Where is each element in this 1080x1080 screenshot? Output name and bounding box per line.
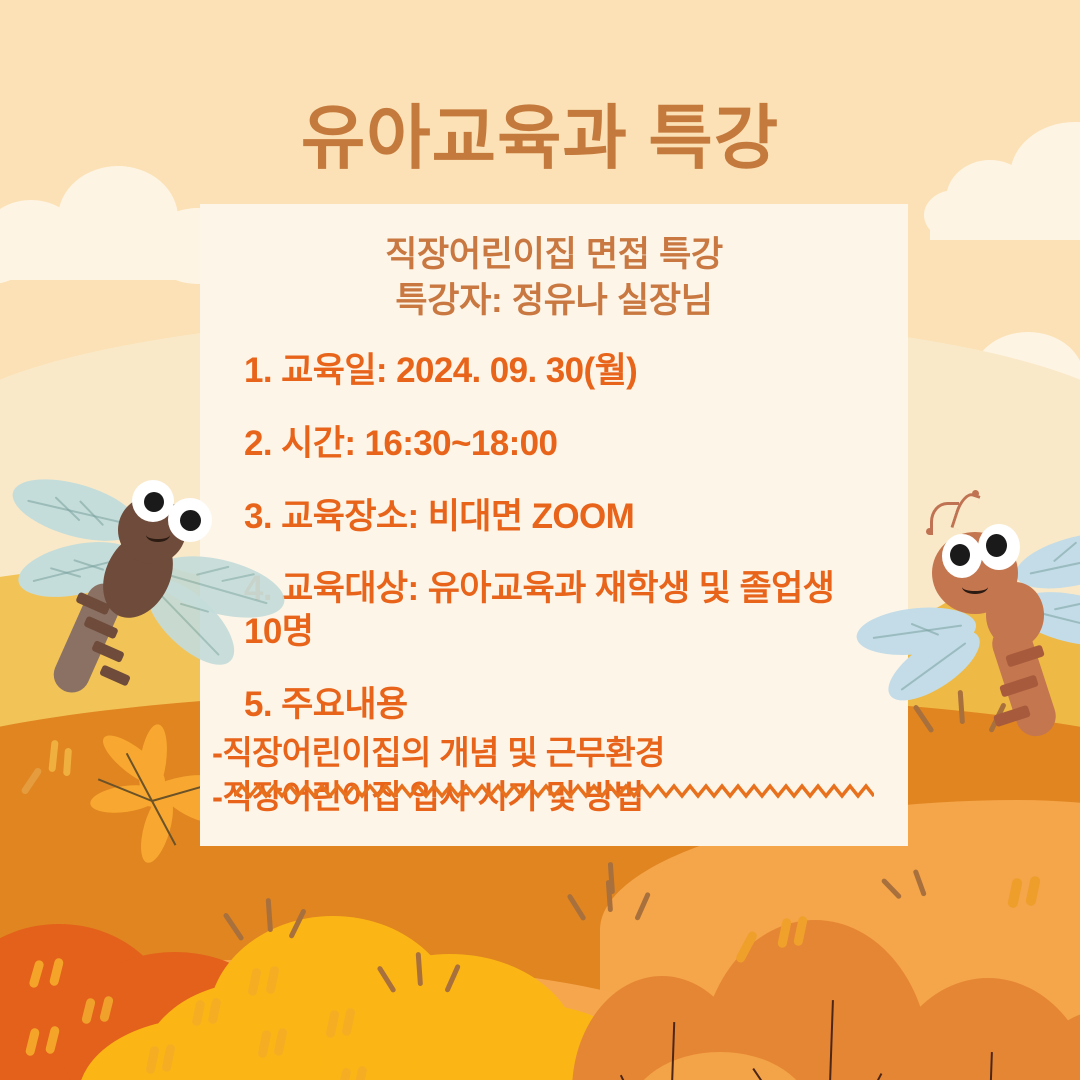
list-item: -직장어린이집의 개념 및 근무환경 [212, 731, 908, 775]
info-card: 직장어린이집 면접 특강 특강자: 정유나 실장님 1. 교육일: 2024. … [200, 204, 908, 846]
poster: 유아교육과 특강 직장어린이집 면접 특강 특강자: 정유나 실장님 1. 교육… [0, 0, 1080, 1080]
list-item: 1. 교육일: 2024. 09. 30(월) [244, 350, 874, 393]
sub-detail-list: -직장어린이집의 개념 및 근무환경 -직장어린이집 입사 시기 및 방법 [200, 731, 908, 819]
page-title: 유아교육과 특강 [0, 82, 1080, 183]
card-subheading: 특강자: 정유나 실장님 [200, 278, 908, 324]
list-item: 4. 교육대상: 유아교육과 재학생 및 졸업생 10명 [244, 568, 874, 653]
dragonfly-icon [18, 440, 278, 690]
dragonfly-icon [890, 490, 1080, 710]
list-item: 5. 주요내용 [244, 684, 874, 727]
detail-list: 1. 교육일: 2024. 09. 30(월) 2. 시간: 16:30~18:… [200, 324, 908, 726]
list-item: 2. 시간: 16:30~18:00 [244, 423, 874, 466]
zigzag-divider [234, 782, 874, 802]
list-item: 3. 교육장소: 비대면 ZOOM [244, 496, 874, 539]
card-heading: 직장어린이집 면접 특강 [200, 204, 908, 278]
